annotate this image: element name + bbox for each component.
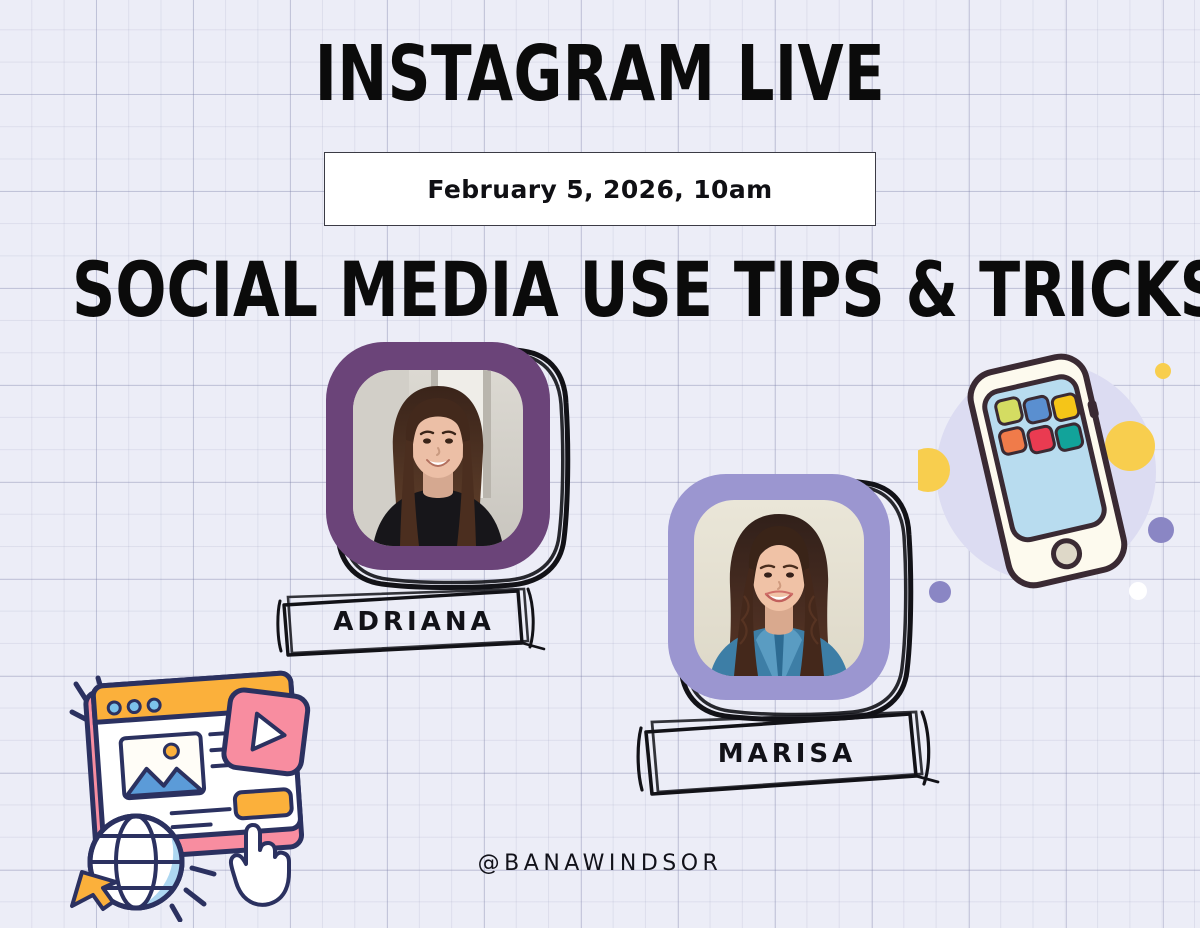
name-plate-marisa: MARISA [632,706,942,802]
phone-illustration [918,348,1200,614]
photo-inner-marisa [694,500,864,676]
event-date-box: February 5, 2026, 10am [324,152,876,226]
photo-frame-marisa [668,474,890,700]
speaker-photo-marisa [694,500,864,676]
event-date-text: February 5, 2026, 10am [427,175,772,204]
social-handle: @BANAWINDSOR [0,851,1200,876]
event-headline: SOCIAL MEDIA USE TIPS & TRICKS [72,252,1128,328]
photo-frame-adriana [326,342,550,570]
speaker-name-marisa: MARISA [632,706,942,802]
speaker-card-adriana [316,336,566,586]
page-title: INSTAGRAM LIVE [84,36,1116,113]
speaker-name-adriana: ADRIANA [272,583,556,661]
name-plate-adriana: ADRIANA [272,583,556,661]
browser-globe-illustration [58,668,320,922]
photo-inner-adriana [353,370,523,546]
speaker-card-marisa [656,466,906,716]
poster-canvas: INSTAGRAM LIVE February 5, 2026, 10am SO… [0,0,1200,928]
speaker-photo-adriana [353,370,523,546]
